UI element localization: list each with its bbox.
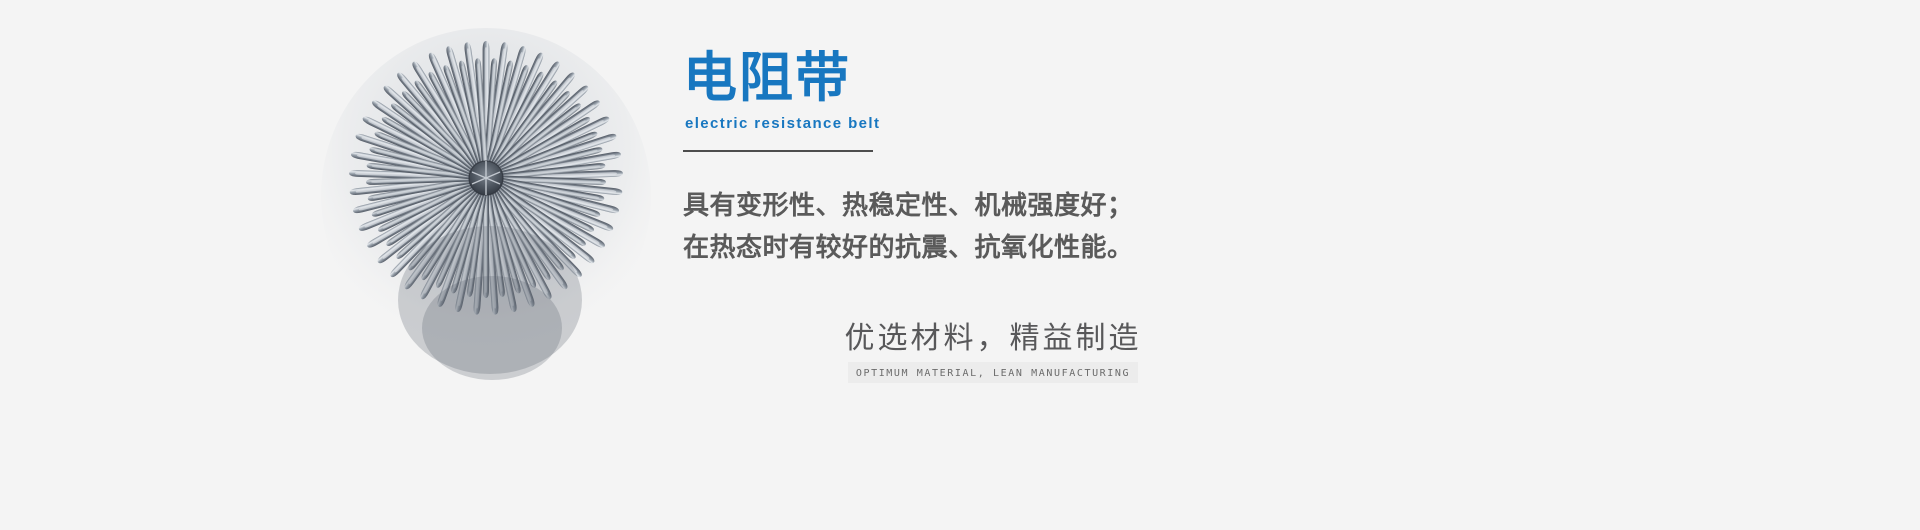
description-line-2: 在热态时有较好的抗震、抗氧化性能。 bbox=[683, 227, 1303, 269]
electric-resistance-belt-photo bbox=[300, 28, 680, 398]
slogan-en-backdrop: OPTIMUM MATERIAL, LEAN MANUFACTURING bbox=[848, 362, 1138, 383]
banner-content: 电阻带 electric resistance belt 具有变形性、热稳定性、… bbox=[683, 0, 1683, 530]
title-divider bbox=[683, 150, 873, 152]
slogan-cn: 优选材料，精益制造 bbox=[773, 318, 1213, 360]
slogan-block: 优选材料，精益制造 OPTIMUM MATERIAL, LEAN MANUFAC… bbox=[773, 318, 1213, 383]
product-banner: 电阻带 electric resistance belt 具有变形性、热稳定性、… bbox=[0, 0, 1920, 530]
description-block: 具有变形性、热稳定性、机械强度好； 在热态时有较好的抗震、抗氧化性能。 bbox=[683, 185, 1303, 269]
description-line-1: 具有变形性、热稳定性、机械强度好； bbox=[683, 185, 1303, 227]
page-title: 电阻带 bbox=[683, 48, 1243, 108]
slogan-en: OPTIMUM MATERIAL, LEAN MANUFACTURING bbox=[856, 368, 1130, 379]
title-block: 电阻带 electric resistance belt bbox=[683, 48, 1243, 152]
product-image-container bbox=[300, 28, 680, 398]
page-subtitle-en: electric resistance belt bbox=[685, 114, 1243, 134]
